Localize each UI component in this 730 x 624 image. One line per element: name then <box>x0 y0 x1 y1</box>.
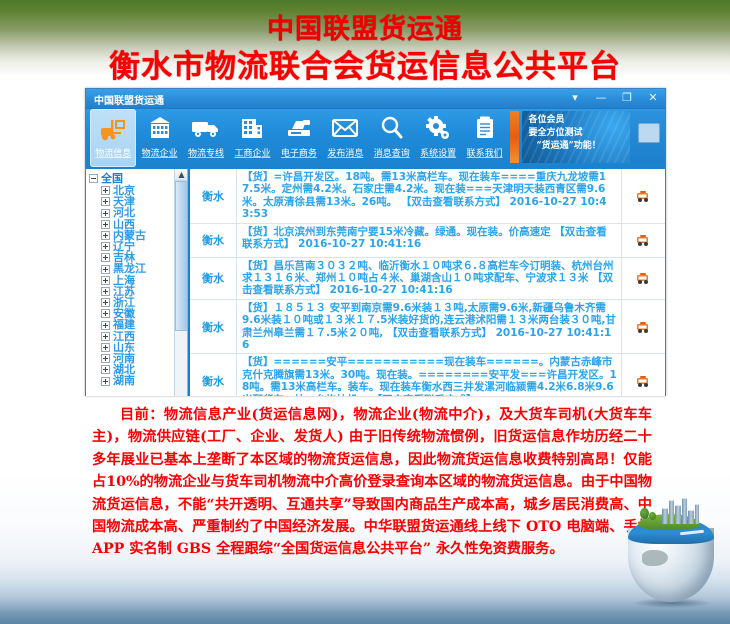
expand-toggle-icon[interactable] <box>101 354 110 363</box>
cell-message[interactable]: 【货】北京滨州到东莞南宁要15米冷藏。绿通。现在装。价高速定 【双击查看联系方式… <box>237 224 621 257</box>
earth-city-globe-icon <box>624 510 720 610</box>
office-icon <box>238 113 266 143</box>
window-title-text: 中国联盟货运通 <box>94 92 164 107</box>
magnifier-icon <box>378 113 406 143</box>
toolbar-label: 发布消息 <box>327 146 363 159</box>
toolbar-separator <box>510 111 520 163</box>
member-notice-banner[interactable]: 各位会员 要全方位测试 “货运通”功能！ <box>522 111 630 163</box>
expand-toggle-icon[interactable] <box>101 209 110 218</box>
toolbar-label: 消息查询 <box>374 146 410 159</box>
toolbar-item-ecommerce[interactable]: 电子商务 <box>276 109 322 167</box>
toolbar-item-system-settings[interactable]: 系统设置 <box>415 109 461 167</box>
expand-toggle-icon[interactable] <box>101 242 110 251</box>
close-icon[interactable]: ✕ <box>645 90 661 106</box>
cell-message[interactable]: 【货】１８５１３ 安平到南京需9.6米装１３吨,太原需9.6米,新疆乌鲁木齐需9… <box>237 300 621 354</box>
cell-action-icon[interactable] <box>621 300 665 354</box>
scrollbar-thumb[interactable] <box>175 181 188 331</box>
banner-line1: 各位会员 <box>528 114 630 127</box>
truck-icon <box>190 113 222 143</box>
tree-item-province[interactable]: 湖南 <box>89 375 187 386</box>
message-text: 【货】======安平===========现在装车======。内蒙古赤峰市克… <box>242 356 617 396</box>
tree-item-province[interactable]: 内蒙古 <box>89 230 187 241</box>
cell-message[interactable]: 【货】=许昌开发区。18吨。需13米高栏车。现在装车====重庆九龙坡需17.5… <box>237 169 621 223</box>
toolbar-item-logistics-companies[interactable]: 物流企业 <box>136 109 182 167</box>
toolbar-label: 工商企业 <box>234 146 270 159</box>
tree-item-province[interactable]: 江苏 <box>89 286 187 297</box>
sidebar-scrollbar[interactable]: ▲ <box>174 169 187 396</box>
building-icon <box>146 113 174 143</box>
toolbar-label: 物流信息 <box>95 146 131 159</box>
expand-toggle-icon[interactable] <box>101 332 110 341</box>
ecommerce-icon <box>284 113 314 143</box>
expand-toggle-icon[interactable] <box>101 186 110 195</box>
cell-action-icon[interactable] <box>621 354 665 396</box>
table-row[interactable]: 衡水【货】１８５１３ 安平到南京需9.6米装１３吨,太原需9.6米,新疆乌鲁木齐… <box>190 300 665 355</box>
cell-city: 衡水 <box>190 300 237 354</box>
toolbar-label: 物流企业 <box>142 146 178 159</box>
window-body: 全国 北京天津河北山西内蒙古辽宁吉林黑龙江上海江苏浙江安徽福建江西山东河南湖北湖… <box>86 169 665 396</box>
cell-message[interactable]: 【货】======安平===========现在装车======。内蒙古赤峰市克… <box>237 354 621 396</box>
toolbar-right-panel <box>630 111 665 163</box>
toolbar-label: 系统设置 <box>420 146 456 159</box>
toolbar-item-message-query[interactable]: 消息查询 <box>369 109 415 167</box>
tree-item-label: 湖南 <box>113 375 135 386</box>
cell-city: 衡水 <box>190 354 237 396</box>
tree-item-province[interactable]: 北京 <box>89 185 187 196</box>
tree-item-label: 河北 <box>113 207 135 218</box>
expand-toggle-icon[interactable] <box>101 321 110 330</box>
tree-item-province[interactable]: 上海 <box>89 275 187 286</box>
main-toolbar: 物流信息 物流企业 <box>86 109 665 169</box>
page-title-line2: 衡水市物流联合会货运信息公共平台 <box>0 48 730 86</box>
cell-message[interactable]: 【货】昌乐莒南３０３２吨、临沂衡水１０吨求６.８高栏车今订明装、杭州台州求１３１… <box>237 258 621 299</box>
cell-action-icon[interactable] <box>621 169 665 223</box>
expand-toggle-icon[interactable] <box>101 298 110 307</box>
table-row[interactable]: 衡水【货】昌乐莒南３０３２吨、临沂衡水１０吨求６.８高栏车今订明装、杭州台州求１… <box>190 258 665 300</box>
expand-toggle-icon[interactable] <box>101 377 110 386</box>
toolbar-label: 联系我们 <box>467 146 503 159</box>
truck-action-icon <box>636 271 652 285</box>
tree-item-province[interactable]: 安徽 <box>89 308 187 319</box>
tree-item-province[interactable]: 黑龙江 <box>89 263 187 274</box>
expand-toggle-icon[interactable] <box>101 265 110 274</box>
gear-icon <box>424 113 452 143</box>
freight-message-table: 衡水【货】=许昌开发区。18吨。需13米高栏车。现在装车====重庆九龙坡需17… <box>188 169 665 396</box>
application-window: 中国联盟货运通 ▾ — ❐ ✕ <box>85 88 666 396</box>
banner-line2: 要全方位测试 <box>528 127 630 140</box>
page-title-line1: 中国联盟货运通 <box>0 14 730 46</box>
region-tree: 全国 北京天津河北山西内蒙古辽宁吉林黑龙江上海江苏浙江安徽福建江西山东河南湖北湖… <box>86 169 187 387</box>
cell-city: 衡水 <box>190 169 237 223</box>
truck-action-icon <box>636 189 652 203</box>
expand-toggle-icon[interactable] <box>101 276 110 285</box>
tree-item-province[interactable]: 天津 <box>89 196 187 207</box>
cell-city: 衡水 <box>190 224 237 257</box>
toolbar-item-logistics-lines[interactable]: 物流专线 <box>183 109 229 167</box>
tree-item-province[interactable]: 福建 <box>89 319 187 330</box>
toolbar-item-publish-message[interactable]: 发布消息 <box>322 109 368 167</box>
scroll-up-icon[interactable]: ▲ <box>175 169 188 181</box>
message-timestamp: 2016-10-27 10:41:16 <box>330 284 453 296</box>
expand-toggle-icon[interactable] <box>101 220 110 229</box>
expand-toggle-icon[interactable] <box>101 287 110 296</box>
cell-city: 衡水 <box>190 258 237 299</box>
truck-action-icon <box>636 374 652 388</box>
tree-item-province[interactable]: 浙江 <box>89 297 187 308</box>
banner-line3: “货运通”功能！ <box>528 140 630 153</box>
tree-item-label: 福建 <box>113 319 135 330</box>
forklift-icon <box>98 113 128 143</box>
table-row[interactable]: 衡水【货】=许昌开发区。18吨。需13米高栏车。现在装车====重庆九龙坡需17… <box>190 169 665 224</box>
tree-item-province[interactable]: 辽宁 <box>89 241 187 252</box>
clipboard-icon <box>472 113 498 143</box>
message-text: 【货】北京滨州到东莞南宁要15米冷藏。绿通。现在装。价高速定 【双击查看联系方式… <box>242 226 607 250</box>
page-root: 中国联盟货运通 衡水市物流联合会货运信息公共平台 中国联盟货运通 ▾ — ❐ ✕ <box>0 0 730 624</box>
cell-action-icon[interactable] <box>621 258 665 299</box>
toolbar-item-industrial-commercial[interactable]: 工商企业 <box>229 109 275 167</box>
tree-item-province[interactable]: 江西 <box>89 331 187 342</box>
chevron-down-icon[interactable]: ▾ <box>567 90 583 106</box>
envelope-icon <box>330 113 360 143</box>
description-paragraph: 目前：物流信息产业(货运信息网)，物流企业(物流中介)，及大货车司机(大货车车主… <box>92 404 652 561</box>
tree-item-province[interactable]: 河南 <box>89 353 187 364</box>
tree-item-province[interactable]: 山东 <box>89 342 187 353</box>
tree-item-province[interactable]: 湖北 <box>89 364 187 375</box>
toolbar-label: 物流专线 <box>188 146 224 159</box>
table-row[interactable]: 衡水【货】======安平===========现在装车======。内蒙古赤峰… <box>190 354 665 396</box>
page-title: 中国联盟货运通 衡水市物流联合会货运信息公共平台 <box>0 14 730 86</box>
maximize-icon[interactable]: ❐ <box>619 90 635 106</box>
globe-tree-icon <box>640 508 649 519</box>
toolbar-item-contact-us[interactable]: 联系我们 <box>461 109 507 167</box>
toolbar-item-logistics-info[interactable]: 物流信息 <box>90 109 136 167</box>
expand-toggle-icon[interactable] <box>101 343 110 352</box>
tree-item-nationwide[interactable]: 全国 <box>89 172 187 185</box>
expand-toggle-icon[interactable] <box>101 231 110 240</box>
tree-item-label: 黑龙江 <box>113 263 146 274</box>
region-sidebar: 全国 北京天津河北山西内蒙古辽宁吉林黑龙江上海江苏浙江安徽福建江西山东河南湖北湖… <box>86 169 188 396</box>
window-titlebar[interactable]: 中国联盟货运通 ▾ — ❐ ✕ <box>86 89 665 109</box>
expand-toggle-icon[interactable] <box>101 365 110 374</box>
collapse-toggle-icon[interactable] <box>89 174 98 183</box>
expand-toggle-icon[interactable] <box>101 309 110 318</box>
table-row[interactable]: 衡水【货】北京滨州到东莞南宁要15米冷藏。绿通。现在装。价高速定 【双击查看联系… <box>190 224 665 258</box>
globe-wave <box>680 530 704 535</box>
expand-toggle-icon[interactable] <box>101 197 110 206</box>
expand-toggle-icon[interactable] <box>101 253 110 262</box>
cell-action-icon[interactable] <box>621 224 665 257</box>
message-timestamp: 2016-10-27 10:41:16 <box>298 238 421 250</box>
truck-action-icon <box>636 233 652 247</box>
window-controls: ▾ — ❐ ✕ <box>567 90 661 106</box>
toolbar-label: 电子商务 <box>281 146 317 159</box>
tree-item-province[interactable]: 河北 <box>89 207 187 218</box>
printer-icon <box>638 123 660 143</box>
globe-city-skyline <box>662 498 700 524</box>
truck-action-icon <box>636 320 652 334</box>
globe-tree2-icon <box>649 512 656 520</box>
minimize-icon[interactable]: — <box>593 90 609 106</box>
